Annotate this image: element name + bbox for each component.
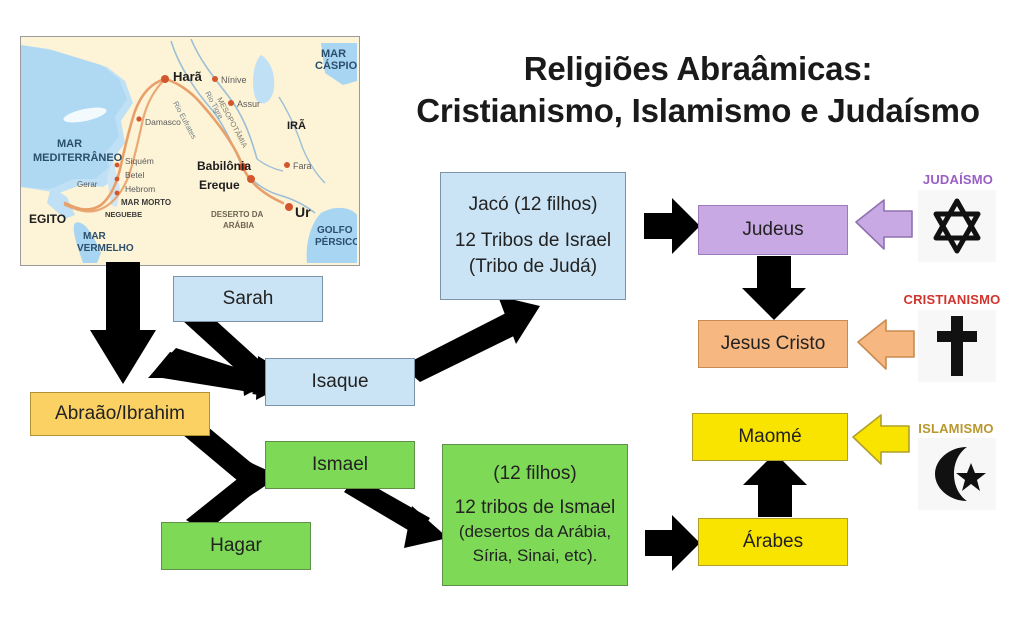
svg-text:Fara: Fara	[293, 161, 312, 171]
node-jaco-line-2: 12 Tribos de Israel	[455, 228, 611, 254]
node-abraao-label: Abraão/Ibrahim	[55, 401, 185, 427]
node-arabes[interactable]: Árabes	[698, 518, 848, 566]
arrow-isaque-to-jaco	[402, 296, 540, 382]
node-judeus[interactable]: Judeus	[698, 205, 848, 255]
arrow-judeus-to-jesus	[742, 256, 806, 320]
historical-map: Harã Nínive Assur Damasco Babilônia Fara…	[20, 36, 360, 266]
node-maome-label: Maomé	[738, 424, 801, 450]
svg-text:VERMELHO: VERMELHO	[77, 243, 134, 254]
node-tribos-line-1: (12 filhos)	[493, 462, 576, 486]
arrow-arabes-to-maome	[743, 453, 807, 517]
node-tribos-line-2: 12 tribos de Ismael	[455, 496, 616, 520]
svg-text:IRÃ: IRÃ	[287, 119, 306, 132]
diagram-canvas: Harã Nínive Assur Damasco Babilônia Fara…	[0, 0, 1024, 628]
svg-text:Assur: Assur	[237, 99, 260, 109]
svg-text:Hebrom: Hebrom	[125, 184, 155, 194]
judaism-caption: JUDAÍSMO	[898, 172, 1018, 187]
svg-text:Siquém: Siquém	[125, 156, 154, 166]
node-maome[interactable]: Maomé	[692, 413, 848, 461]
node-isaque-label: Isaque	[311, 369, 368, 395]
node-jaco-line-3: (Tribo de Judá)	[469, 254, 597, 280]
svg-text:DESERTO DA: DESERTO DA	[211, 210, 264, 219]
node-arabes-label: Árabes	[743, 529, 803, 555]
svg-text:Ur: Ur	[295, 204, 311, 220]
svg-text:ARÁBIA: ARÁBIA	[223, 221, 254, 230]
svg-text:NEGUEBE: NEGUEBE	[105, 210, 142, 219]
svg-text:EGITO: EGITO	[29, 212, 66, 226]
node-jaco[interactable]: Jacó (12 filhos) 12 Tribos de Israel (Tr…	[440, 172, 626, 300]
node-hagar-label: Hagar	[210, 533, 262, 559]
svg-text:Nínive: Nínive	[221, 75, 247, 85]
title-line-1: Religiões Abraâmicas:	[524, 50, 873, 87]
svg-text:MAR MORTO: MAR MORTO	[121, 198, 171, 207]
arrow-judeus-to-judaismo	[856, 200, 912, 249]
svg-text:MAR: MAR	[57, 138, 82, 150]
svg-text:GOLFO: GOLFO	[317, 225, 353, 236]
node-judeus-label: Judeus	[742, 217, 803, 243]
node-jesus-cristo[interactable]: Jesus Cristo	[698, 320, 848, 368]
svg-text:Babilônia: Babilônia	[197, 159, 251, 173]
latin-cross-icon	[918, 310, 996, 382]
arrow-jesus-to-cristianismo	[858, 320, 914, 369]
node-abraao[interactable]: Abraão/Ibrahim	[30, 392, 210, 436]
svg-text:Ereque: Ereque	[199, 178, 240, 192]
node-ismael[interactable]: Ismael	[265, 441, 415, 489]
svg-text:CÁSPIO: CÁSPIO	[315, 59, 357, 72]
arrow-map-to-abraao	[90, 262, 156, 384]
node-jesus-cristo-label: Jesus Cristo	[721, 331, 826, 357]
star-of-david-icon	[918, 190, 996, 262]
svg-text:Damasco: Damasco	[145, 117, 181, 127]
islam-caption: ISLAMISMO	[896, 421, 1016, 436]
page-title: Religiões Abraâmicas: Cristianismo, Isla…	[372, 48, 1024, 132]
svg-text:Betel: Betel	[125, 170, 144, 180]
node-jaco-line-1: Jacó (12 filhos)	[469, 192, 598, 218]
svg-text:Gerar: Gerar	[77, 180, 98, 189]
arrow-jaco-to-judeus	[644, 198, 700, 254]
node-ismael-label: Ismael	[312, 452, 368, 478]
node-hagar[interactable]: Hagar	[161, 522, 311, 570]
node-tribos-line-3: (desertos da Arábia,	[459, 520, 611, 544]
svg-text:MAR: MAR	[83, 231, 107, 242]
svg-text:Harã: Harã	[173, 69, 203, 84]
crescent-star-icon	[918, 438, 996, 510]
node-sarah[interactable]: Sarah	[173, 276, 323, 322]
svg-text:MAR: MAR	[321, 48, 346, 60]
arrow-tribos-to-arabes	[645, 515, 700, 571]
node-sarah-label: Sarah	[223, 286, 274, 312]
node-tribos-ismael[interactable]: (12 filhos) 12 tribos de Ismael (deserto…	[442, 444, 628, 586]
node-tribos-line-4: Síria, Sinai, etc).	[473, 544, 598, 568]
christianity-caption: CRISTIANISMO	[892, 292, 1012, 307]
title-line-2: Cristianismo, Islamismo e Judaísmo	[372, 90, 1024, 132]
svg-text:MEDITERRÂNEO: MEDITERRÂNEO	[33, 151, 123, 164]
node-isaque[interactable]: Isaque	[265, 358, 415, 406]
svg-text:PÉRSICO: PÉRSICO	[315, 235, 357, 248]
